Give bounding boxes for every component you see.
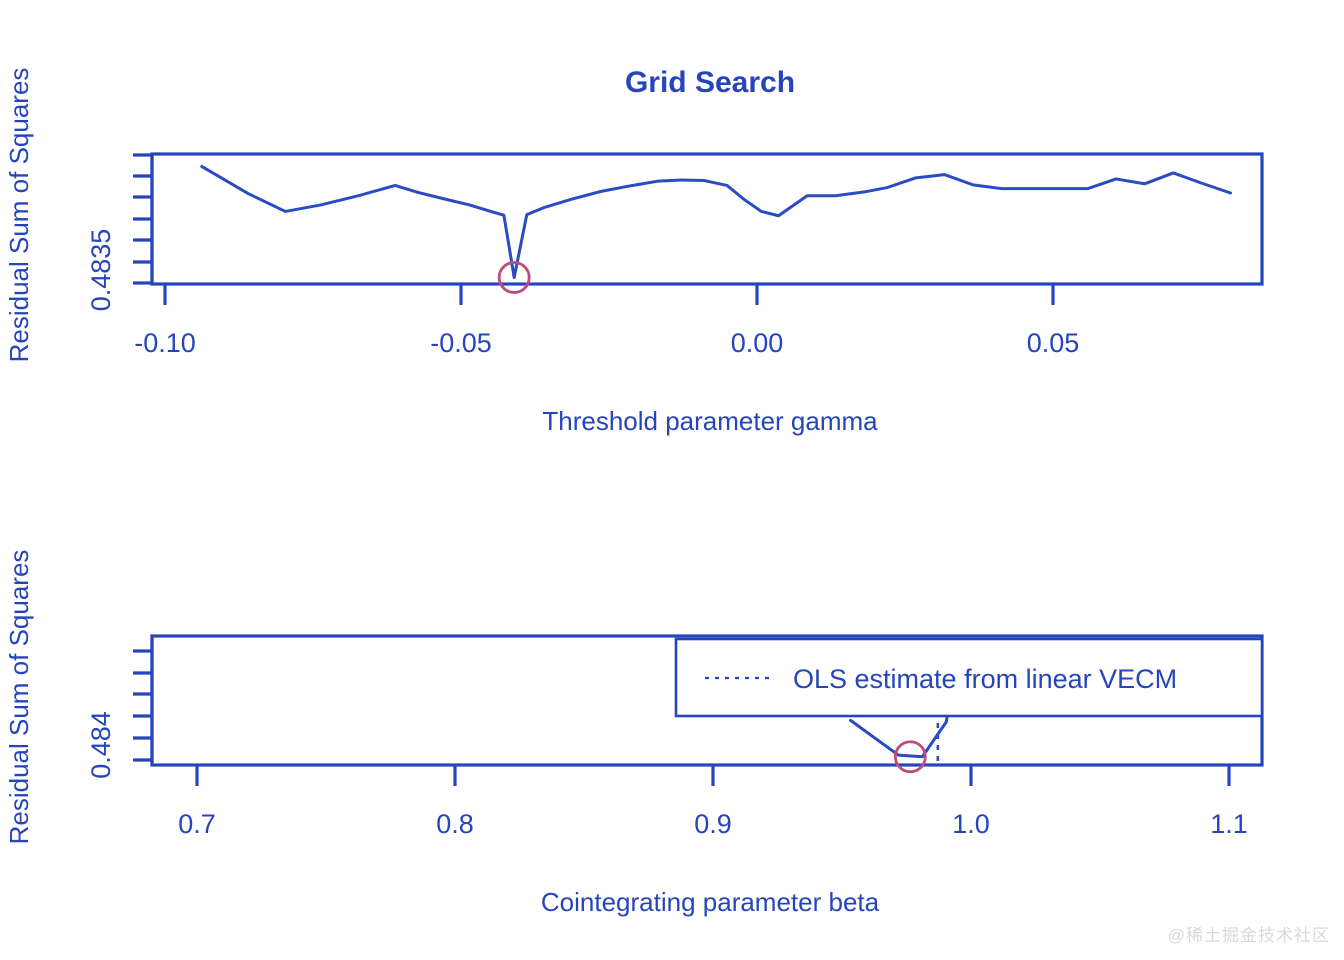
legend[interactable]: OLS estimate from linear VECM (676, 639, 1262, 716)
top-x-tick-label-0: -0.10 (134, 328, 196, 358)
watermark: @稀土掘金技术社区 (1168, 921, 1330, 946)
bottom-x-tick-label-2: 0.9 (694, 809, 732, 839)
top-y-ticks (133, 155, 152, 283)
page-title: Grid Search (625, 66, 795, 99)
bottom-panel: Residual Sum of Squares 0.484 (4, 550, 1262, 917)
top-series-line (202, 166, 1231, 277)
grid-search-figure: Grid Search Residual Sum of Squares 0.48… (0, 0, 1344, 960)
bottom-y-ticks (133, 651, 152, 760)
bottom-x-tick-label-4: 1.1 (1210, 809, 1248, 839)
top-x-ticks (165, 284, 1053, 305)
top-y-axis-title: Residual Sum of Squares (4, 68, 34, 363)
bottom-x-tick-label-3: 1.0 (952, 809, 990, 839)
bottom-x-tick-label-0: 0.7 (178, 809, 216, 839)
top-y-tick-label: 0.4835 (86, 229, 116, 312)
top-plot-frame (152, 154, 1262, 284)
top-x-axis-title: Threshold parameter gamma (542, 406, 878, 436)
figure-canvas: Grid Search Residual Sum of Squares 0.48… (0, 0, 1344, 960)
bottom-y-tick-label: 0.484 (86, 711, 116, 779)
top-x-tick-label-1: -0.05 (430, 328, 492, 358)
bottom-x-tick-label-1: 0.8 (436, 809, 474, 839)
bottom-y-axis-title: Residual Sum of Squares (4, 550, 34, 845)
top-panel: Grid Search Residual Sum of Squares 0.48… (4, 66, 1262, 436)
bottom-x-ticks (197, 765, 1229, 786)
top-x-tick-label-3: 0.05 (1027, 328, 1080, 358)
bottom-x-axis-title: Cointegrating parameter beta (541, 887, 880, 917)
top-x-tick-label-2: 0.00 (731, 328, 784, 358)
legend-label-ols: OLS estimate from linear VECM (793, 664, 1177, 694)
